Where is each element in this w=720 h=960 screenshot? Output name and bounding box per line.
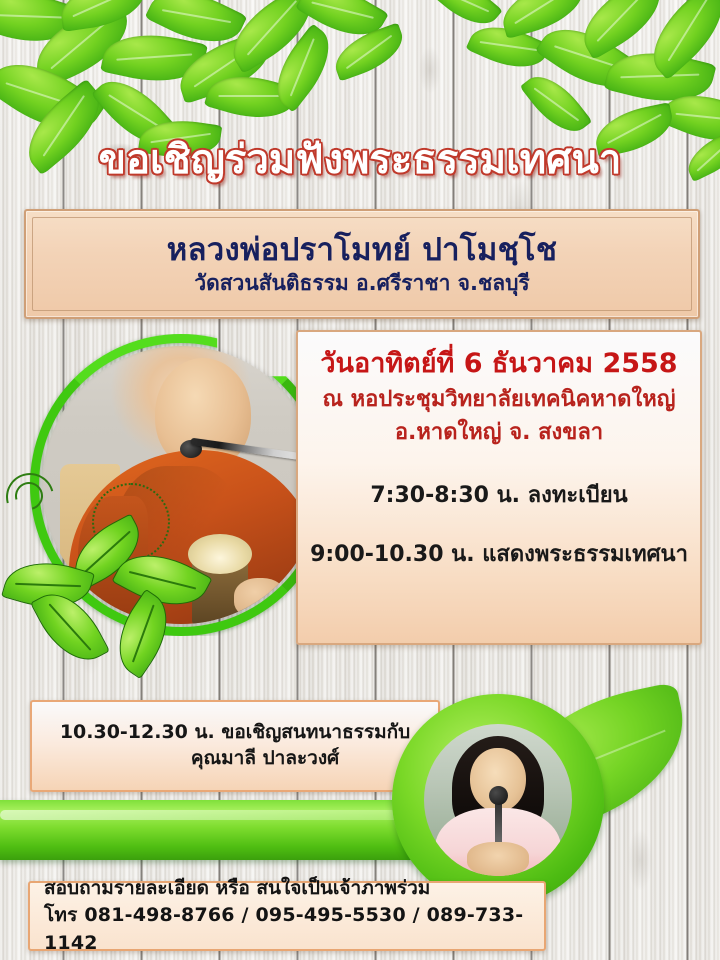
speaker-affiliation: วัดสวนสันติธรรม อ.ศรีราชา จ.ชลบุรี [194, 271, 529, 295]
discussion-box: 10.30-12.30 น. ขอเชิญสนทนาธรรมกับ คุณมาล… [30, 700, 440, 792]
contact-phone-numbers: โทร 081-498-8766 / 095-495-5530 / 089-73… [44, 902, 544, 957]
poster-title: ขอเชิญร่วมฟังพระธรรมเทศนา [0, 140, 720, 180]
event-date: วันอาทิตย์ที่ 6 ธันวาคม 2558 [320, 348, 677, 380]
speaker-name: หลวงพ่อปราโมทย์ ปาโมชฺโช [167, 233, 557, 268]
contact-box: สอบถามรายละเอียด หรือ สนใจเป็นเจ้าภาพร่ว… [28, 881, 546, 951]
event-schedule-list: 7:30-8:30 น. ลงทะเบียน 9:00-10.30 น. แสด… [306, 477, 692, 571]
discussion-line1: 10.30-12.30 น. ขอเชิญสนทนาธรรมกับ [60, 720, 410, 746]
leaf-cluster-decoration [0, 455, 230, 695]
lady-hands [467, 842, 529, 876]
event-venue-line1: ณ หอประชุมวิทยาลัยเทคนิคหาดใหญ่ [323, 386, 676, 414]
poster-root: ขอเชิญร่วมฟังพระธรรมเทศนา หลวงพ่อปราโมทย… [0, 0, 720, 960]
contact-prompt: สอบถามรายละเอียด หรือ สนใจเป็นเจ้าภาพร่ว… [44, 875, 544, 903]
schedule-item-registration: 7:30-8:30 น. ลงทะเบียน [370, 477, 627, 512]
lady-portrait-photo [424, 724, 572, 876]
schedule-item-sermon: 9:00-10.30 น. แสดงพระธรรมเทศนา [310, 536, 688, 571]
event-details-box: วันอาทิตย์ที่ 6 ธันวาคม 2558 ณ หอประชุมว… [296, 330, 702, 645]
speaker-name-box: หลวงพ่อปราโมทย์ ปาโมชฺโช วัดสวนสันติธรรม… [24, 209, 700, 319]
discussion-line2: คุณมาลี ปาละวงศ์ [131, 746, 339, 772]
speaker-name-box-inner: หลวงพ่อปราโมทย์ ปาโมชฺโช วัดสวนสันติธรรม… [32, 217, 692, 311]
event-venue-line2: อ.หาดใหญ่ จ. สงขลา [395, 419, 603, 447]
